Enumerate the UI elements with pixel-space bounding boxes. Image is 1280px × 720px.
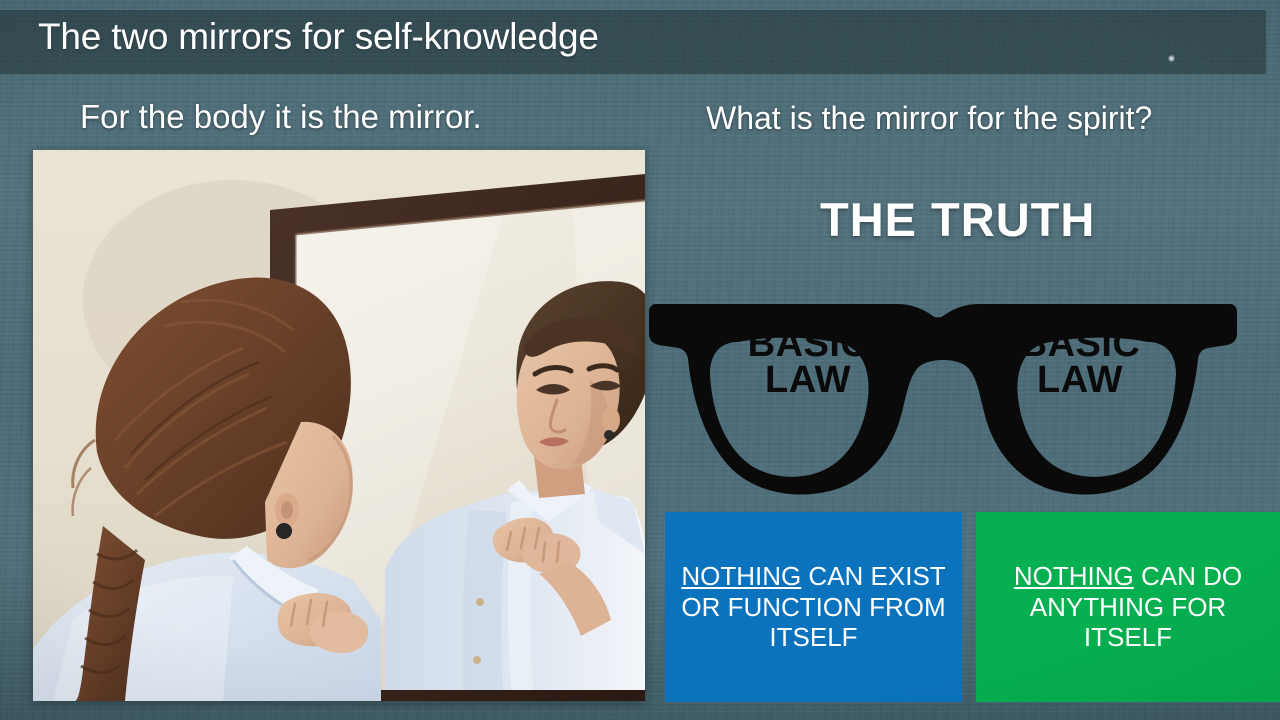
basic-law-box-1: NOTHING CAN EXIST OR FUNCTION FROM ITSEL… [665, 512, 962, 702]
page-title: The two mirrors for self-knowledge [38, 16, 599, 58]
mirror-photo-illustration [33, 150, 645, 701]
right-lens-label: BASIC LAW [980, 326, 1180, 398]
left-lens-line2: LAW [708, 362, 908, 398]
basic-law-box-2-text: NOTHING CAN DO ANYTHING FOR ITSELF [986, 561, 1270, 653]
mirror-photo [33, 150, 645, 701]
left-column-heading: For the body it is the mirror. [80, 98, 482, 136]
answer-the-truth: THE TRUTH [820, 192, 1095, 247]
right-lens-line2: LAW [980, 362, 1180, 398]
basic-law-box-1-emphasis: NOTHING [681, 561, 801, 591]
left-lens-label: BASIC LAW [708, 326, 908, 398]
basic-law-box-1-text: NOTHING CAN EXIST OR FUNCTION FROM ITSEL… [675, 561, 952, 653]
basic-law-box-2: NOTHING CAN DO ANYTHING FOR ITSELF [976, 512, 1280, 702]
dust-speck-artifact [1168, 55, 1175, 62]
glasses-graphic: BASIC LAW BASIC LAW [648, 290, 1238, 502]
slide-canvas: The two mirrors for self-knowledge For t… [0, 0, 1280, 720]
right-column-heading: What is the mirror for the spirit? [706, 100, 1152, 137]
basic-law-box-2-emphasis: NOTHING [1014, 561, 1134, 591]
